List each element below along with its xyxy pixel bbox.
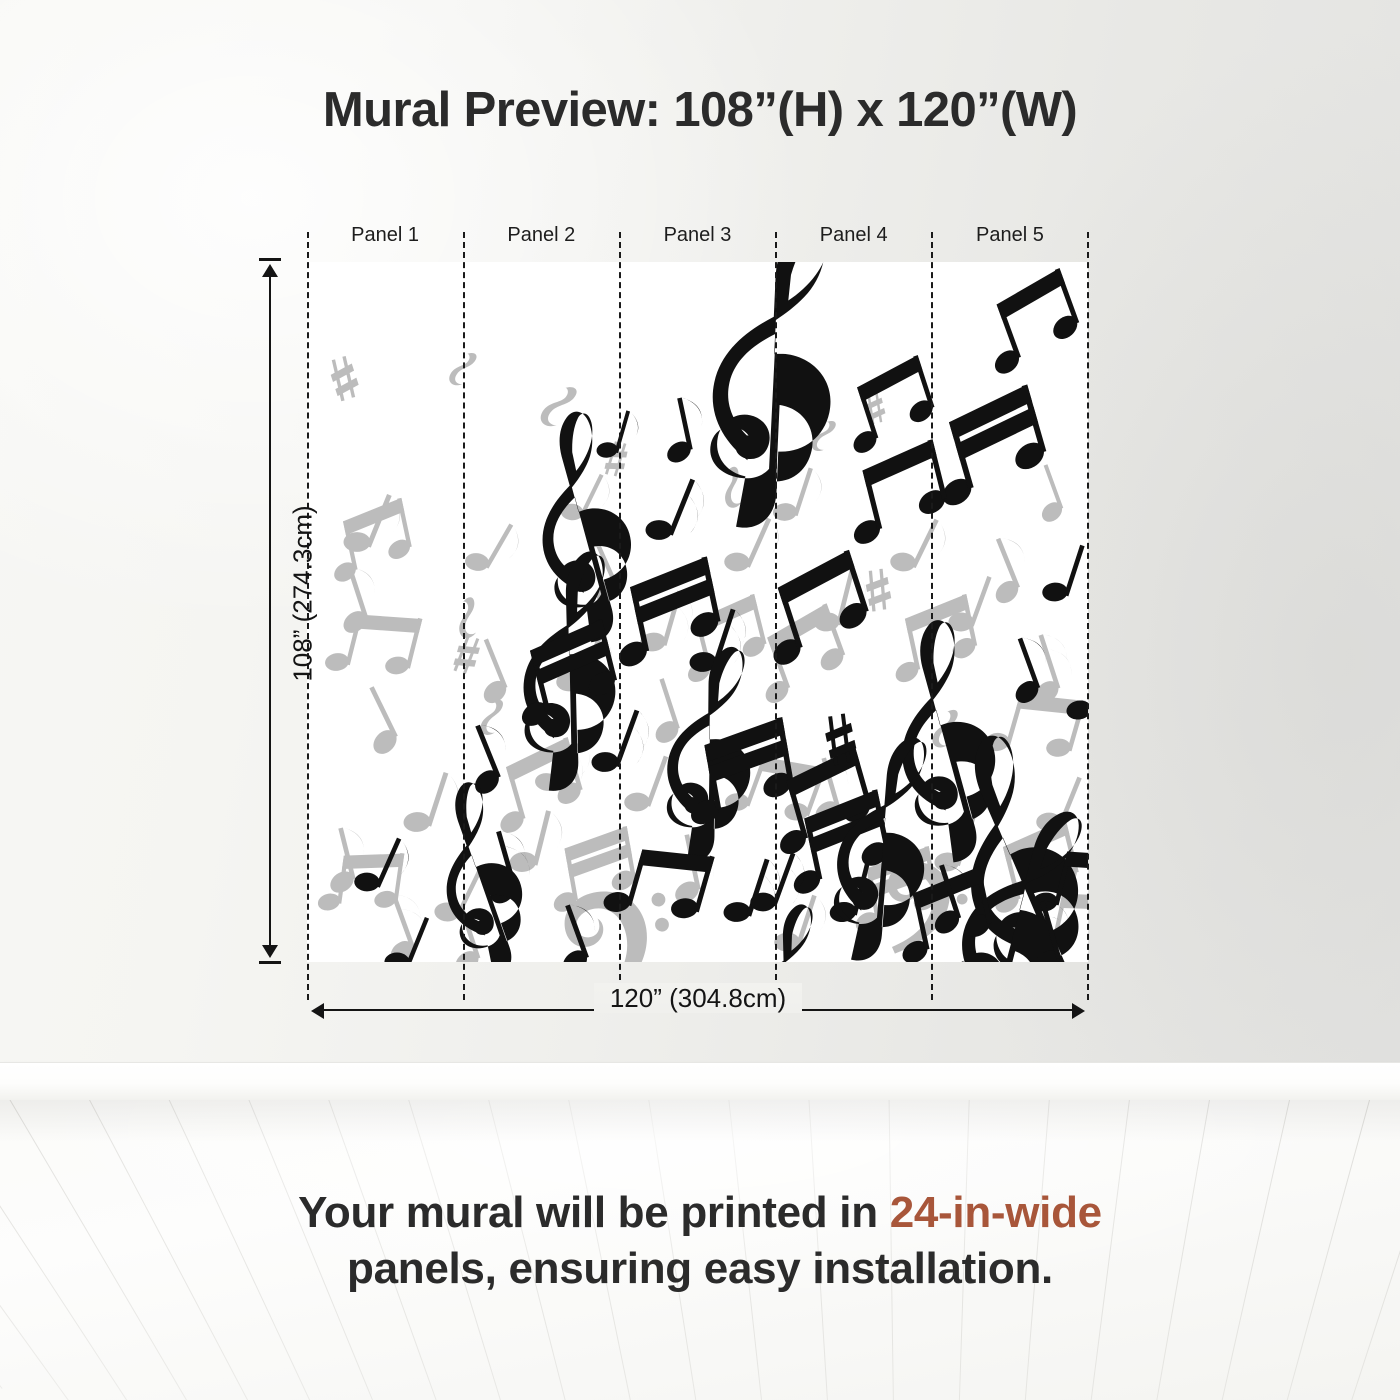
width-dimension-text: 120” (304.8cm): [594, 983, 802, 1013]
mural-preview-image: [307, 262, 1088, 962]
height-dimension-arrow: 108” (274.3cm): [255, 258, 285, 964]
width-dimension-arrow: 120” (304.8cm): [309, 1000, 1087, 1022]
height-arrowhead-up: [262, 264, 278, 277]
caption-accent: 24-in-wide: [890, 1188, 1102, 1237]
footer-caption: Your mural will be printed in 24-in-wide…: [100, 1185, 1300, 1298]
panel-label-row: Panel 1 Panel 2 Panel 3 Panel 4 Panel 5: [307, 219, 1088, 251]
height-arrowhead-down: [262, 945, 278, 958]
page-title: Mural Preview: 108”(H) x 120”(W): [0, 82, 1400, 138]
caption-line2: panels, ensuring easy installation.: [347, 1244, 1053, 1293]
height-arrow-shaft: [269, 266, 271, 956]
panel-label-1: Panel 1: [307, 219, 463, 251]
panel-label-5: Panel 5: [932, 219, 1088, 251]
height-tick-top: [259, 258, 281, 261]
width-dimension-label: 120” (304.8cm): [309, 983, 1087, 1014]
height-tick-bottom: [259, 961, 281, 964]
panel-label-2: Panel 2: [463, 219, 619, 251]
height-dimension-label: 108” (274.3cm): [288, 464, 319, 724]
baseboard: [0, 1062, 1400, 1100]
panel-label-3: Panel 3: [619, 219, 775, 251]
caption-line1-prefix: Your mural will be printed in: [298, 1188, 890, 1237]
panel-label-4: Panel 4: [776, 219, 932, 251]
music-note-pattern: [307, 262, 1088, 962]
